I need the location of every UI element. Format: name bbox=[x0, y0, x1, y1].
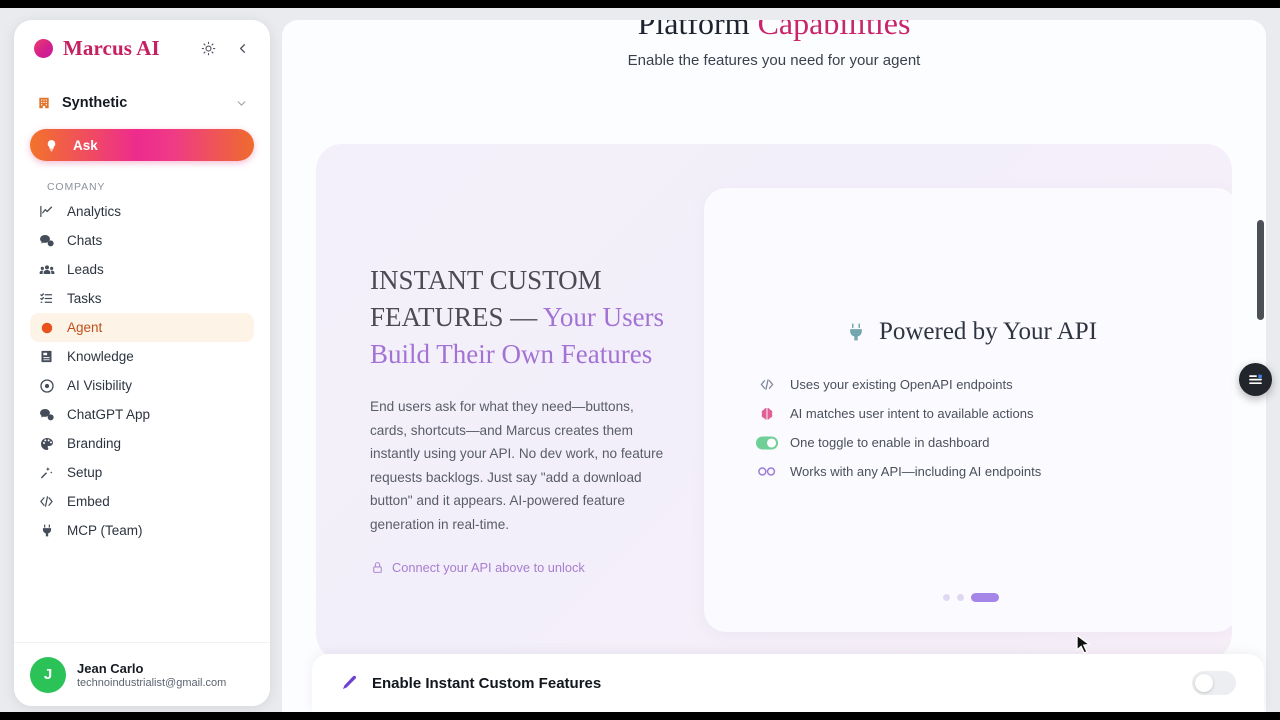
sidebar-item-agent[interactable]: Agent bbox=[30, 313, 254, 342]
carousel-dot-3[interactable] bbox=[971, 593, 999, 602]
carousel-dot-1[interactable] bbox=[943, 594, 950, 601]
eye-icon bbox=[38, 377, 55, 394]
panel-title: Powered by Your API bbox=[879, 318, 1097, 346]
page-subtitle: Enable the features you need for your ag… bbox=[282, 52, 1266, 69]
list-item-label: Works with any API—including AI endpoint… bbox=[790, 464, 1041, 479]
chevron-left-icon[interactable] bbox=[232, 38, 252, 58]
sidebar-item-chatgpt-app[interactable]: ChatGPT App bbox=[30, 400, 254, 429]
brain-icon bbox=[756, 405, 778, 423]
chevron-down-icon bbox=[235, 97, 248, 110]
sidebar-item-label: Embed bbox=[67, 494, 110, 509]
lightbulb-icon bbox=[44, 138, 59, 153]
enable-feature-label: Enable Instant Custom Features bbox=[372, 675, 601, 692]
page-title-plain: Platform bbox=[638, 20, 758, 41]
screen-root: Marcus AI bbox=[0, 0, 1280, 720]
heading-part1: INSTANT CUSTOM bbox=[370, 265, 602, 295]
sidebar-item-tasks[interactable]: Tasks bbox=[30, 284, 254, 313]
sidebar-item-leads[interactable]: Leads bbox=[30, 255, 254, 284]
carousel-dot-2[interactable] bbox=[957, 594, 964, 601]
feature-card: INSTANT CUSTOMFEATURES — Your UsersBuild… bbox=[316, 144, 1232, 660]
pen-icon bbox=[338, 673, 359, 694]
palette-icon bbox=[38, 435, 55, 452]
letterbox-bottom bbox=[0, 712, 1280, 720]
sidebar-item-label: Branding bbox=[67, 436, 121, 451]
list-item-label: AI matches user intent to available acti… bbox=[790, 406, 1034, 421]
user-meta: Jean Carlo technoindustrialist@gmail.com bbox=[77, 661, 226, 689]
page-title-accent: Capabilities bbox=[758, 20, 911, 41]
page-header: Platform Capabilities Enable the feature… bbox=[282, 20, 1266, 69]
infinity-icon bbox=[756, 463, 778, 481]
sidebar-item-label: Setup bbox=[67, 465, 102, 480]
sidebar-item-label: Agent bbox=[67, 320, 102, 335]
unlock-text: Connect your API above to unlock bbox=[392, 560, 585, 575]
brand-row: Marcus AI bbox=[14, 20, 270, 76]
connect-api-unlock-link[interactable]: Connect your API above to unlock bbox=[370, 560, 682, 575]
sidebar-section-label: COMPANY bbox=[47, 181, 270, 193]
building-icon bbox=[36, 95, 52, 111]
sidebar-item-embed[interactable]: Embed bbox=[30, 487, 254, 516]
brand-actions bbox=[198, 38, 252, 58]
workspace-selector[interactable]: Synthetic bbox=[30, 88, 254, 118]
users-icon bbox=[38, 261, 55, 278]
sidebar-item-label: AI Visibility bbox=[67, 378, 132, 393]
book-icon bbox=[38, 348, 55, 365]
letterbox-top bbox=[0, 0, 1280, 8]
user-account-card[interactable]: J Jean Carlo technoindustrialist@gmail.c… bbox=[14, 642, 270, 706]
lock-icon bbox=[370, 561, 384, 575]
plug-icon bbox=[845, 320, 867, 344]
enable-feature-bar: Enable Instant Custom Features bbox=[312, 654, 1264, 712]
carousel-indicators bbox=[704, 593, 1232, 602]
sidebar-item-branding[interactable]: Branding bbox=[30, 429, 254, 458]
main-content: Platform Capabilities Enable the feature… bbox=[282, 20, 1266, 712]
powered-by-api-panel: Powered by Your API Uses your existing O… bbox=[704, 188, 1232, 632]
plug-icon bbox=[38, 522, 55, 539]
page-title: Platform Capabilities bbox=[282, 20, 1266, 46]
sidebar-item-label: ChatGPT App bbox=[67, 407, 150, 422]
sidebar-item-setup[interactable]: Setup bbox=[30, 458, 254, 487]
api-feature-list: Uses your existing OpenAPI endpoints AI … bbox=[756, 370, 1232, 486]
sidebar-item-analytics[interactable]: Analytics bbox=[30, 197, 254, 226]
list-item-label: One toggle to enable in dashboard bbox=[790, 435, 990, 450]
list-item-label: Uses your existing OpenAPI endpoints bbox=[790, 377, 1013, 392]
sidebar-item-label: Leads bbox=[67, 262, 104, 277]
ask-button[interactable]: Ask bbox=[30, 129, 254, 161]
sidebar-item-mcp-team[interactable]: MCP (Team) bbox=[30, 516, 254, 545]
magic-wand-icon bbox=[38, 464, 55, 481]
app-shell: Marcus AI bbox=[0, 8, 1280, 712]
chat-bubbles-icon bbox=[38, 406, 55, 423]
ask-button-label: Ask bbox=[73, 138, 98, 153]
sidebar-item-label: Chats bbox=[67, 233, 102, 248]
sidebar-item-label: Tasks bbox=[67, 291, 102, 306]
heading-part2: FEATURES — bbox=[370, 302, 543, 332]
menu-fab-button[interactable] bbox=[1239, 363, 1272, 396]
code-brackets-icon bbox=[756, 376, 778, 394]
sidebar-item-chats[interactable]: Chats bbox=[30, 226, 254, 255]
task-list-icon bbox=[38, 290, 55, 307]
toggle-on-icon bbox=[756, 434, 778, 452]
list-item: AI matches user intent to available acti… bbox=[756, 399, 1232, 428]
sidebar-item-label: Analytics bbox=[67, 204, 121, 219]
sidebar-item-label: MCP (Team) bbox=[67, 523, 143, 538]
feature-card-body: End users ask for what they need—buttons… bbox=[370, 395, 670, 536]
user-name: Jean Carlo bbox=[77, 661, 226, 676]
chat-bubbles-icon bbox=[38, 232, 55, 249]
circle-logo-icon bbox=[34, 39, 53, 58]
avatar: J bbox=[30, 657, 66, 693]
list-item: Uses your existing OpenAPI endpoints bbox=[756, 370, 1232, 399]
heading-highlight1: Your Users bbox=[543, 302, 664, 332]
enable-feature-toggle[interactable] bbox=[1192, 671, 1236, 695]
feature-card-left: INSTANT CUSTOMFEATURES — Your UsersBuild… bbox=[370, 262, 682, 575]
sidebar-item-label: Knowledge bbox=[67, 349, 134, 364]
code-brackets-icon bbox=[38, 493, 55, 510]
list-item: One toggle to enable in dashboard bbox=[756, 428, 1232, 457]
panel-title-row: Powered by Your API bbox=[704, 318, 1232, 346]
brand-name: Marcus AI bbox=[63, 36, 160, 61]
sidebar: Marcus AI bbox=[14, 20, 270, 706]
sidebar-item-ai-visibility[interactable]: AI Visibility bbox=[30, 371, 254, 400]
menu-list-icon bbox=[1247, 371, 1264, 388]
vertical-scrollbar-thumb[interactable] bbox=[1257, 220, 1264, 320]
heading-highlight2: Build Their Own Features bbox=[370, 339, 652, 369]
chart-line-icon bbox=[38, 203, 55, 220]
sun-icon[interactable] bbox=[198, 38, 218, 58]
list-item: Works with any API—including AI endpoint… bbox=[756, 457, 1232, 486]
workspace-name: Synthetic bbox=[62, 95, 127, 111]
sidebar-item-knowledge[interactable]: Knowledge bbox=[30, 342, 254, 371]
toggle-knob bbox=[1195, 674, 1213, 692]
feature-card-heading: INSTANT CUSTOMFEATURES — Your UsersBuild… bbox=[370, 262, 682, 373]
user-email: technoindustrialist@gmail.com bbox=[77, 677, 226, 689]
orange-dot-icon bbox=[38, 319, 55, 336]
